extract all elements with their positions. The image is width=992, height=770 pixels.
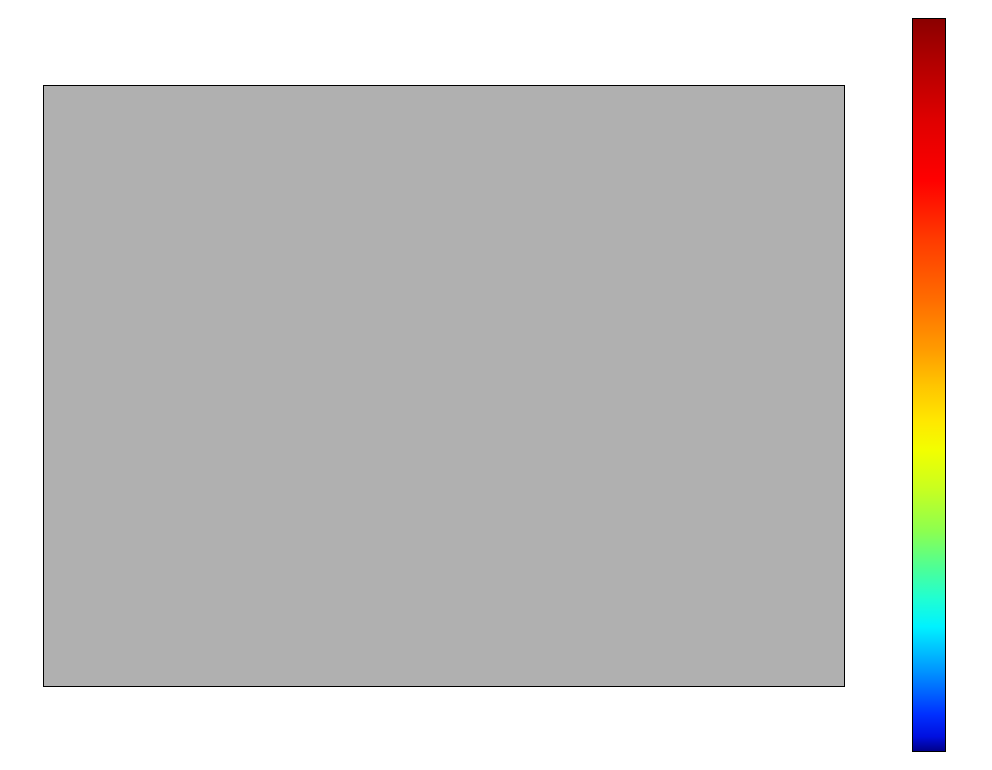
sst-map-page — [0, 0, 992, 770]
coastline-contour-overlay — [44, 86, 844, 686]
temperature-colorbar — [912, 18, 946, 752]
map-frame — [43, 85, 845, 687]
